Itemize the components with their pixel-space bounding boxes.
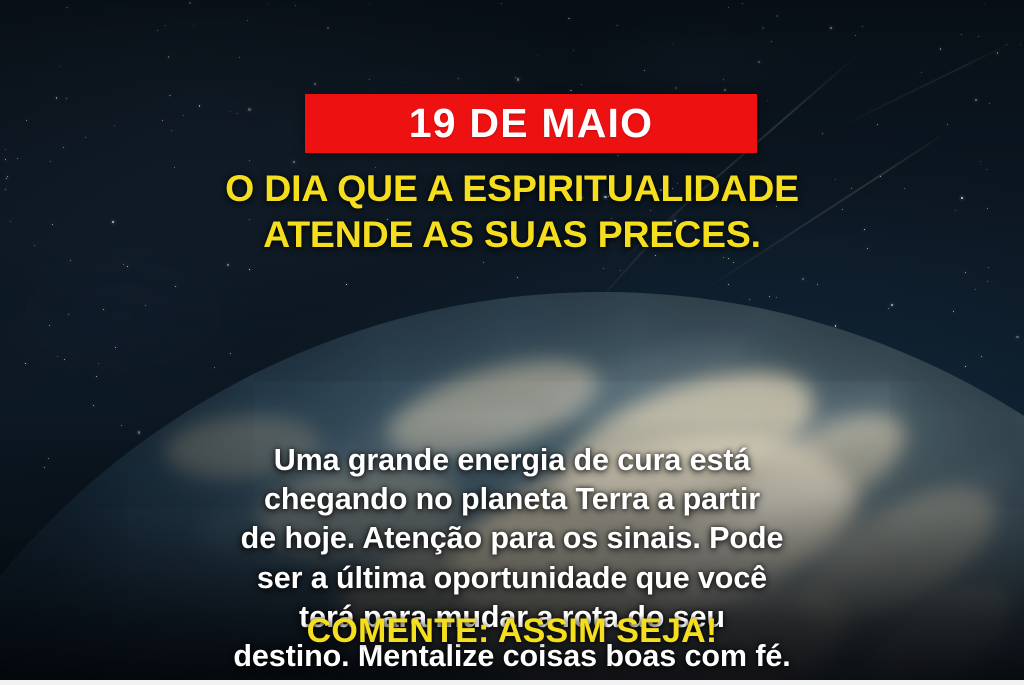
body-copy-line-3: de hoje. Atenção para os sinais. Pode: [52, 519, 972, 558]
body-copy-line-2: chegando no planeta Terra a partir: [52, 480, 972, 519]
date-banner-label: 19 DE MAIO: [409, 103, 653, 144]
body-copy-line-1: Uma grande energia de cura está: [52, 441, 972, 480]
body-copy-line-4: ser a última oportunidade que você: [52, 559, 972, 598]
date-banner: 19 DE MAIO: [305, 94, 757, 153]
bottom-border-strip: [0, 680, 1024, 685]
headline-line-1: O DIA QUE A ESPIRITUALIDADE: [0, 166, 1024, 212]
headline: O DIA QUE A ESPIRITUALIDADE ATENDE AS SU…: [0, 166, 1024, 258]
poster-canvas: 19 DE MAIO O DIA QUE A ESPIRITUALIDADE A…: [0, 0, 1024, 685]
poster-content: 19 DE MAIO O DIA QUE A ESPIRITUALIDADE A…: [0, 0, 1024, 685]
headline-line-2: ATENDE AS SUAS PRECES.: [0, 212, 1024, 258]
call-to-action-text: COMENTE: ASSIM SEJA!: [0, 612, 1024, 651]
